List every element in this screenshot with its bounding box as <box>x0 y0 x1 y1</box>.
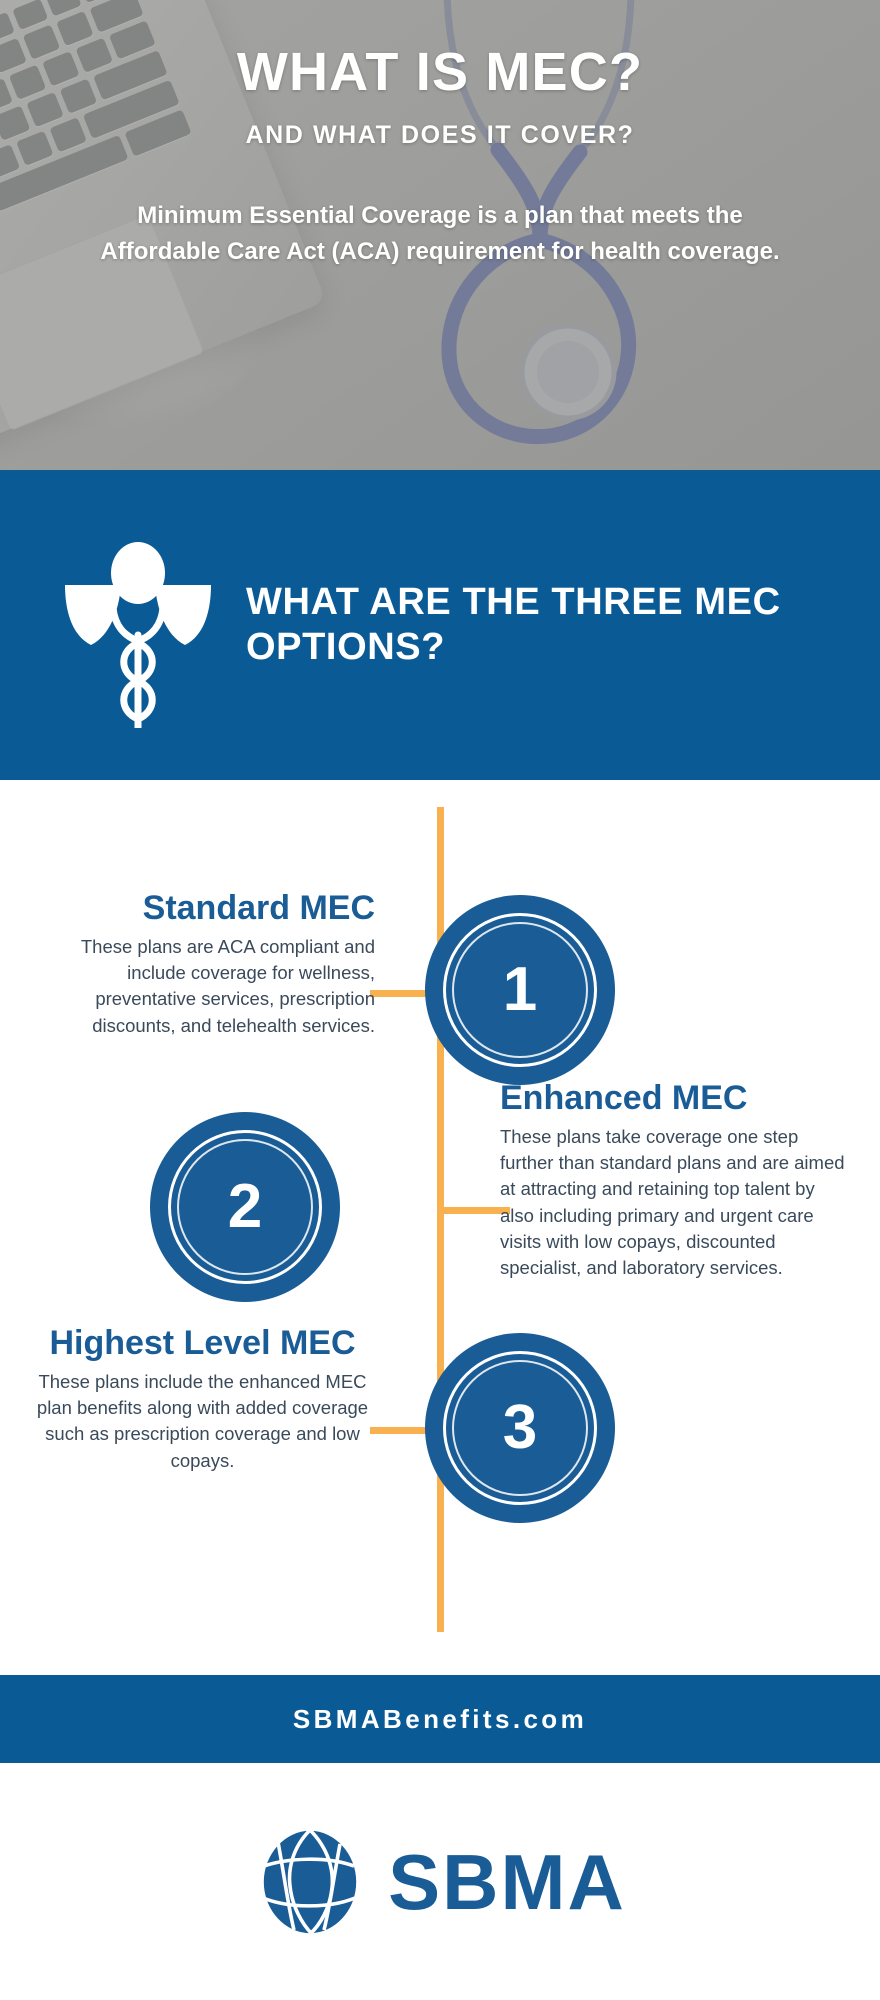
option-title-3: Highest Level MEC <box>30 1325 375 1362</box>
brand-logo: SBMA <box>0 1763 880 2000</box>
option-body-1: These plans are ACA compliant and includ… <box>30 934 375 1039</box>
page-title: WHAT IS MEC? <box>237 44 643 101</box>
band-title: WHAT ARE THE THREE MEC OPTIONS? <box>246 580 880 670</box>
timeline-spine <box>437 807 444 1632</box>
options-header-band: WHAT ARE THE THREE MEC OPTIONS? <box>0 470 880 780</box>
option-badge-1: 1 <box>425 895 615 1085</box>
hero-section: WHAT IS MEC? AND WHAT DOES IT COVER? Min… <box>0 0 880 470</box>
website-url[interactable]: SBMABenefits.com <box>293 1704 587 1735</box>
option-body-2: These plans take coverage one step furth… <box>500 1124 845 1282</box>
option-title-1: Standard MEC <box>30 890 375 927</box>
page-subtitle: AND WHAT DOES IT COVER? <box>245 121 634 150</box>
infographic-page: WHAT IS MEC? AND WHAT DOES IT COVER? Min… <box>0 0 880 2000</box>
option-item-2: Enhanced MEC These plans take coverage o… <box>500 1080 850 1281</box>
option-number-2: 2 <box>228 1176 262 1238</box>
option-item-1: Standard MEC These plans are ACA complia… <box>30 890 380 1039</box>
hero-description: Minimum Essential Coverage is a plan tha… <box>90 198 790 271</box>
option-body-3: These plans include the enhanced MEC pla… <box>30 1369 375 1474</box>
option-item-3: Highest Level MEC These plans include th… <box>30 1325 380 1474</box>
option-title-2: Enhanced MEC <box>500 1080 845 1117</box>
option-badge-3: 3 <box>425 1333 615 1523</box>
option-number-3: 3 <box>503 1397 537 1459</box>
caduceus-icon <box>45 523 230 728</box>
logo-wordmark: SBMA <box>388 1843 626 1921</box>
options-section: Standard MEC These plans are ACA complia… <box>0 780 880 1660</box>
footer-website-bar: SBMABenefits.com <box>0 1675 880 1763</box>
globe-emblem-icon <box>254 1826 366 1938</box>
option-badge-2: 2 <box>150 1112 340 1302</box>
option-number-1: 1 <box>503 959 537 1021</box>
